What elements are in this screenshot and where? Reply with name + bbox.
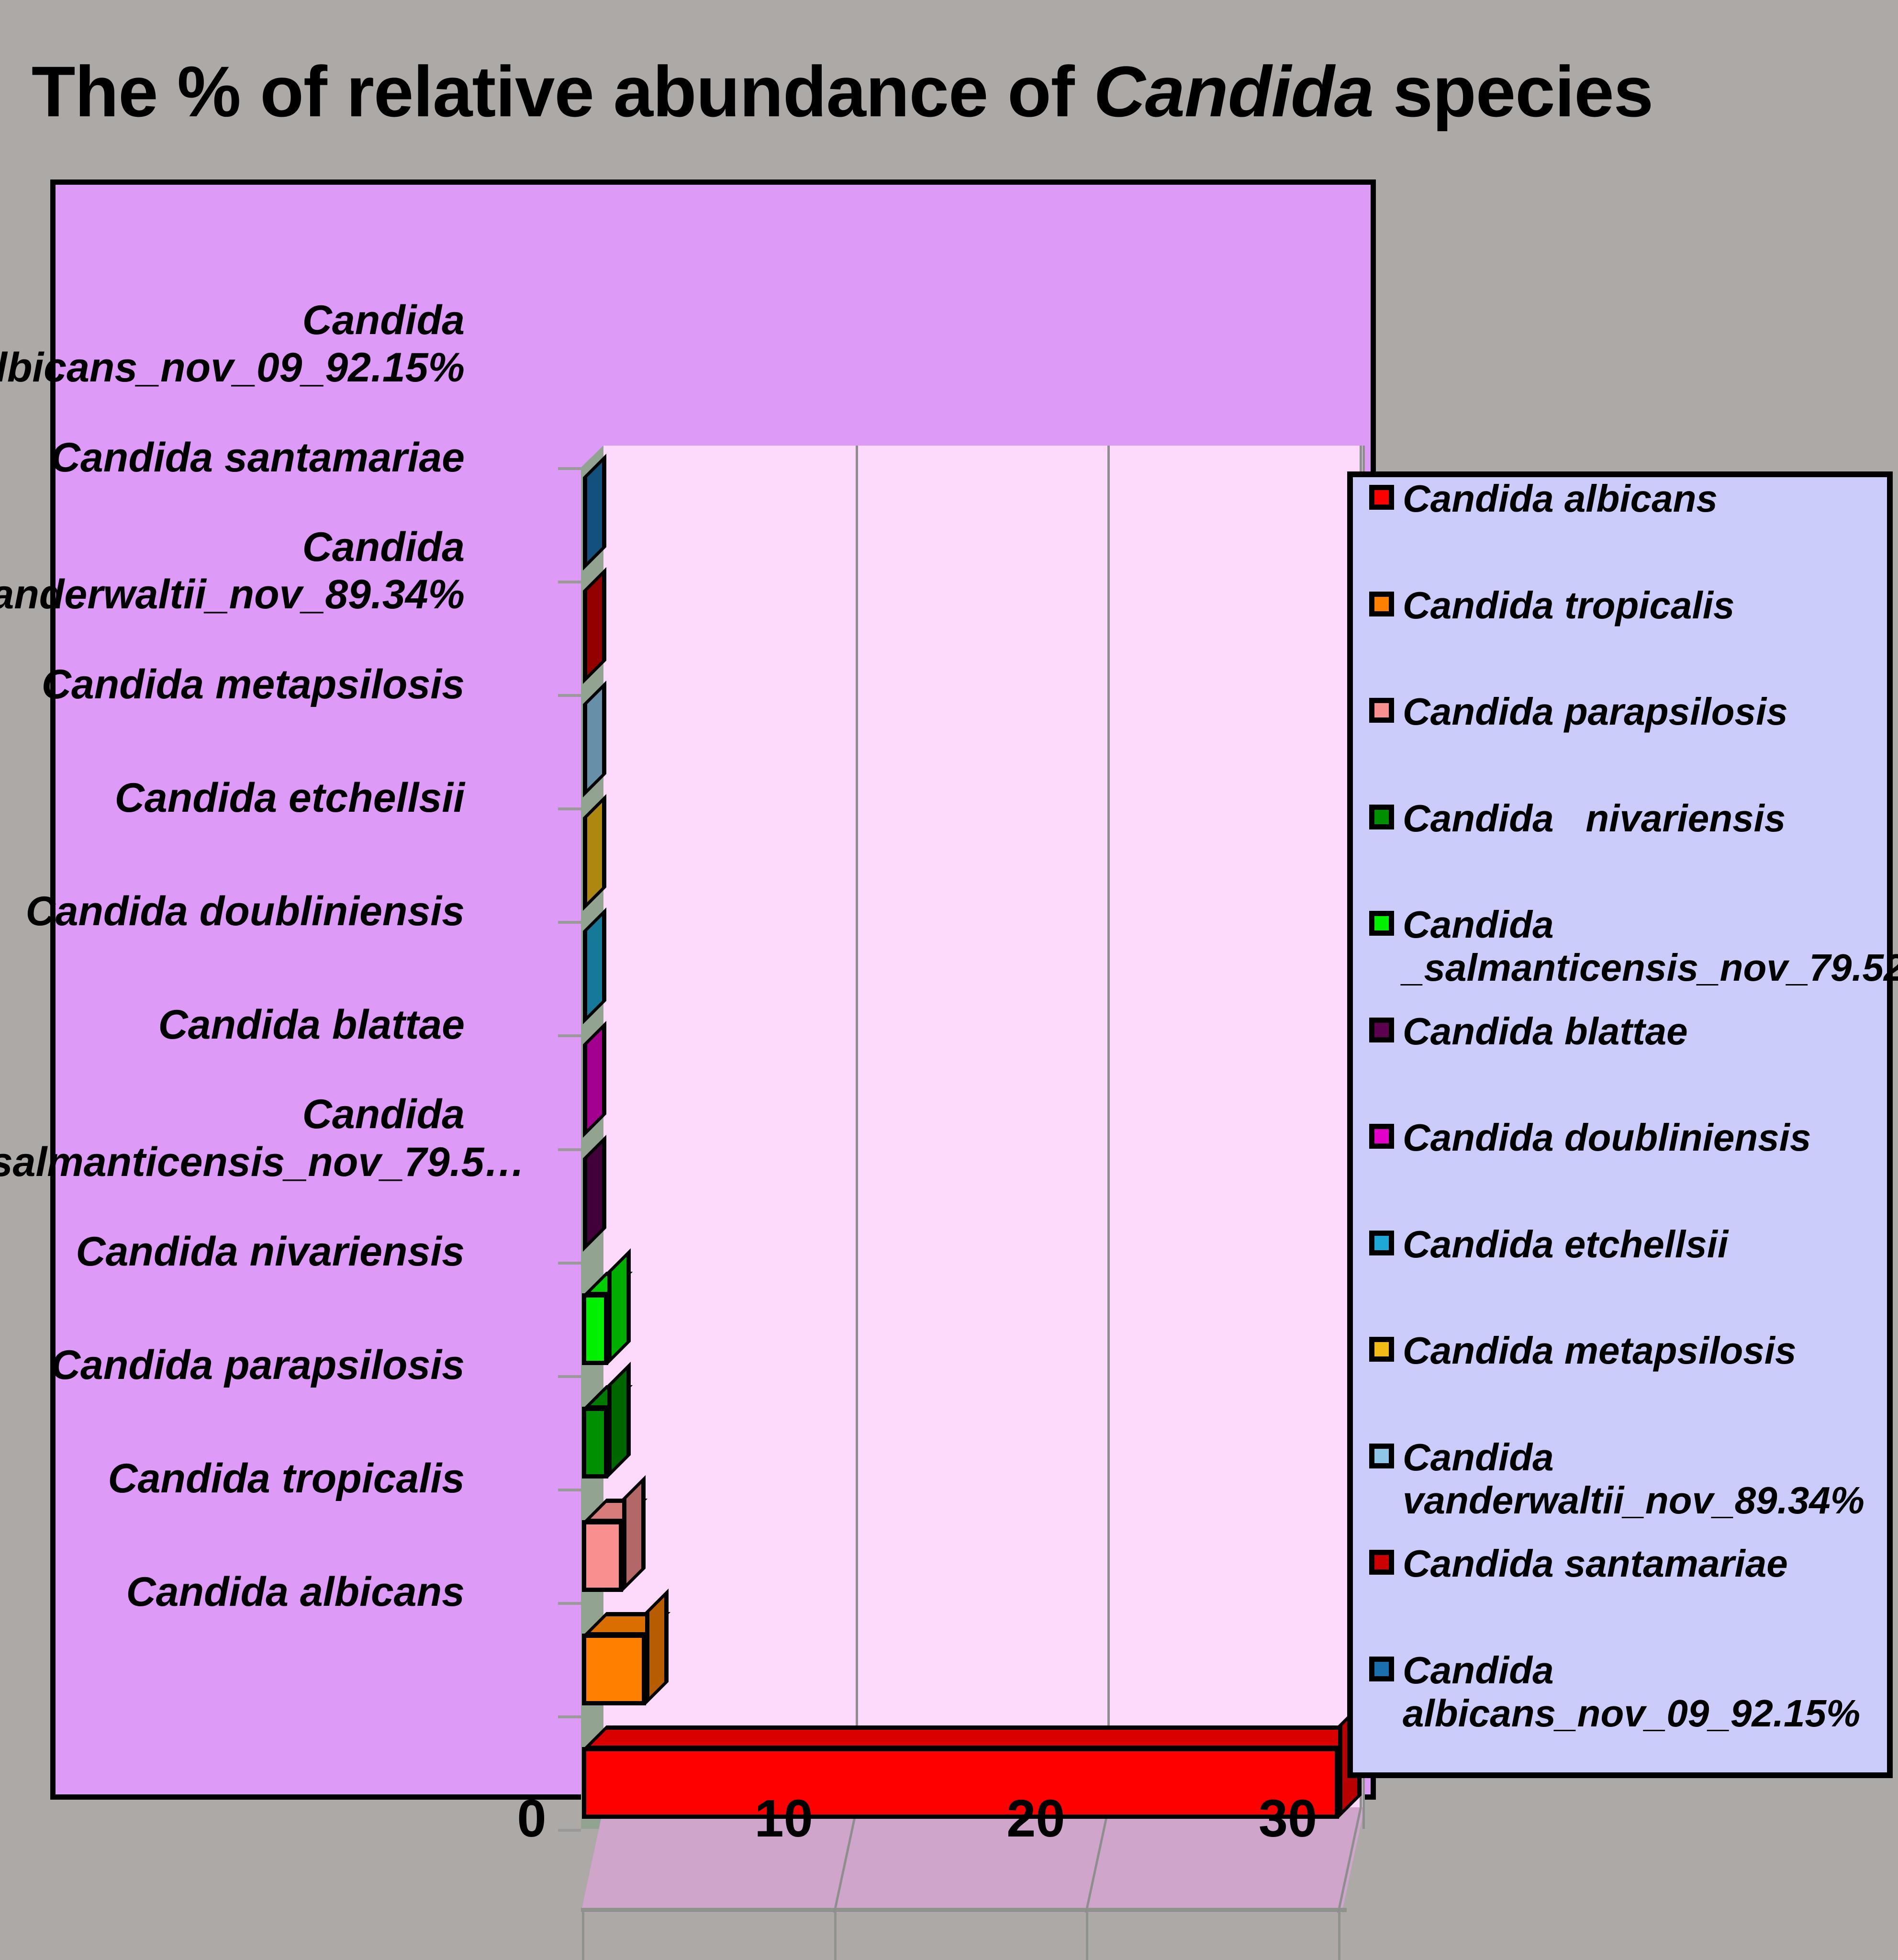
- legend-item-label: Candida tropicalis: [1403, 584, 1734, 627]
- legend-swatch-icon: [1369, 1657, 1394, 1681]
- legend-item-11[interactable]: Candida albicans_nov_09_92.15%: [1369, 1649, 1881, 1736]
- plot-area: [581, 446, 1385, 1913]
- x-axis-tick-0: [582, 1912, 584, 1960]
- chart-title-genus: Candida: [1094, 51, 1373, 132]
- legend-swatch-icon: [1369, 698, 1394, 723]
- x-axis-tick-20: [1086, 1912, 1088, 1960]
- legend-item-1[interactable]: Candida tropicalis: [1369, 584, 1881, 627]
- chart-title: The % of relative abundance of Candida s…: [0, 50, 1685, 133]
- y-axis-label-line2: _salmanticensis_nov_79.5…: [0, 1139, 465, 1187]
- y-axis-label-line1: Candida etchellsii: [0, 774, 465, 822]
- y-axis-label-line2: albicans_nov_09_92.15%: [0, 344, 465, 392]
- legend-swatch-icon: [1369, 1124, 1394, 1149]
- y-axis-label-6: Candida blattae: [0, 1001, 465, 1049]
- legend-item-7[interactable]: Candida etchellsii: [1369, 1223, 1881, 1266]
- y-axis-label-3: Candida metapsilosis: [0, 661, 465, 709]
- y-axis-label-4: Candida etchellsii: [0, 774, 465, 822]
- legend-item-2[interactable]: Candida parapsilosis: [1369, 690, 1881, 733]
- y-axis-label-line1: Candida nivariensis: [0, 1228, 465, 1276]
- y-axis-tick-5: [558, 1034, 581, 1037]
- legend-swatch-icon: [1369, 1550, 1394, 1575]
- legend-item-9[interactable]: Candida vanderwaltii_nov_89.34%: [1369, 1436, 1881, 1523]
- y-axis-tick-9: [558, 1489, 581, 1491]
- bar-front-face: [582, 1634, 646, 1705]
- legend-item-4[interactable]: Candida _salmanticensis_nov_79.52%: [1369, 903, 1881, 990]
- x-axis-tick-30: [1338, 1912, 1340, 1960]
- legend-item-label: Candida _salmanticensis_nov_79.52%: [1403, 903, 1898, 990]
- y-axis-tick-2: [558, 694, 581, 697]
- y-axis-label-line1: Candida tropicalis: [0, 1455, 465, 1503]
- y-axis-label-line1: Candida parapsilosis: [0, 1342, 465, 1389]
- legend-item-label: Candida santamariae: [1403, 1542, 1788, 1585]
- y-axis-label-line1: Candida santamariae: [0, 434, 465, 482]
- x-axis-label-30: 30: [1259, 1788, 1317, 1849]
- legend-item-3[interactable]: Candida nivariensis: [1369, 797, 1881, 840]
- legend-swatch-icon: [1369, 1018, 1394, 1042]
- y-axis-tick-6: [558, 1148, 581, 1151]
- chart-title-post: species: [1373, 51, 1653, 132]
- gridline-20: [1107, 446, 1110, 1807]
- plot-back-wall: [603, 446, 1364, 1807]
- legend-swatch-icon: [1369, 911, 1394, 936]
- bar-front-face: [582, 1520, 623, 1592]
- y-axis-label-line1: Candida: [0, 297, 465, 345]
- chart-title-pre: The % of relative abundance of: [32, 51, 1094, 132]
- y-axis-tick-8: [558, 1375, 581, 1378]
- legend-item-6[interactable]: Candida doubliniensis: [1369, 1116, 1881, 1159]
- legend-item-8[interactable]: Candida metapsilosis: [1369, 1329, 1881, 1372]
- bar-front-face: [582, 1747, 1339, 1819]
- legend-item-0[interactable]: Candida albicans: [1369, 477, 1881, 520]
- y-axis-label-line1: Candida: [0, 1091, 465, 1139]
- gridline-10: [856, 446, 858, 1807]
- y-axis-tick-4: [558, 921, 581, 924]
- chart-plot-frame: Candidaalbicans_nov_09_92.15%Candida san…: [50, 179, 1376, 1800]
- legend-item-label: Candida parapsilosis: [1403, 690, 1788, 733]
- legend-item-label: Candida blattae: [1403, 1010, 1688, 1053]
- x-axis-label-0: 0: [517, 1788, 546, 1849]
- legend-item-label: Candida albicans: [1403, 477, 1718, 520]
- legend-item-label: Candida metapsilosis: [1403, 1329, 1796, 1372]
- x-axis-tick-10: [834, 1912, 837, 1960]
- legend-swatch-icon: [1369, 592, 1394, 616]
- y-axis-tick-11: [558, 1715, 581, 1718]
- y-axis-label-line1: Candida blattae: [0, 1001, 465, 1049]
- y-axis-label-7: Candida_salmanticensis_nov_79.5…: [0, 1091, 465, 1187]
- bar-front-face: [582, 1293, 608, 1365]
- plot-floor: [581, 1807, 1364, 1913]
- legend-swatch-icon: [1369, 1444, 1394, 1468]
- x-axis-label-10: 10: [754, 1788, 813, 1849]
- legend-item-label: Candida vanderwaltii_nov_89.34%: [1403, 1436, 1865, 1523]
- legend-item-label: Candida nivariensis: [1403, 797, 1786, 840]
- legend-swatch-icon: [1369, 1337, 1394, 1362]
- y-axis-label-line1: Candida metapsilosis: [0, 661, 465, 709]
- legend-item-label: Candida albicans_nov_09_92.15%: [1403, 1649, 1860, 1736]
- y-axis-label-line1: Candida doubliniensis: [0, 888, 465, 936]
- legend-swatch-icon: [1369, 1231, 1394, 1255]
- y-axis-label-2: Candidavanderwaltii_nov_89.34%: [0, 524, 465, 619]
- y-axis-label-8: Candida nivariensis: [0, 1228, 465, 1276]
- y-axis-label-10: Candida tropicalis: [0, 1455, 465, 1503]
- y-axis-tick-1: [558, 581, 581, 583]
- y-axis-tick-7: [558, 1262, 581, 1265]
- y-axis-tick-3: [558, 807, 581, 810]
- y-axis-label-line1: Candida: [0, 524, 465, 571]
- bar-top-face: [582, 1725, 1363, 1750]
- x-axis-label-20: 20: [1006, 1788, 1065, 1849]
- legend-item-label: Candida doubliniensis: [1403, 1116, 1811, 1159]
- plot-floor-front-edge: [581, 1908, 1347, 1912]
- y-axis-label-0: Candidaalbicans_nov_09_92.15%: [0, 297, 465, 392]
- y-axis-tick-12: [558, 1829, 581, 1832]
- y-axis-label-1: Candida santamariae: [0, 434, 465, 482]
- y-axis-label-line2: vanderwaltii_nov_89.34%: [0, 571, 465, 619]
- y-axis-label-line1: Candida albicans: [0, 1568, 465, 1616]
- legend-item-10[interactable]: Candida santamariae: [1369, 1542, 1881, 1585]
- legend-swatch-icon: [1369, 485, 1394, 510]
- legend-item-label: Candida etchellsii: [1403, 1223, 1728, 1266]
- legend-item-5[interactable]: Candida blattae: [1369, 1010, 1881, 1053]
- y-axis-tick-10: [558, 1602, 581, 1605]
- legend-swatch-icon: [1369, 805, 1394, 829]
- y-axis-label-9: Candida parapsilosis: [0, 1342, 465, 1389]
- chart-legend: Candida albicansCandida tropicalisCandid…: [1347, 471, 1893, 1778]
- y-axis-label-5: Candida doubliniensis: [0, 888, 465, 936]
- y-axis-label-11: Candida albicans: [0, 1568, 465, 1616]
- bar-front-face: [582, 1407, 608, 1478]
- y-axis-tick-0: [558, 467, 581, 470]
